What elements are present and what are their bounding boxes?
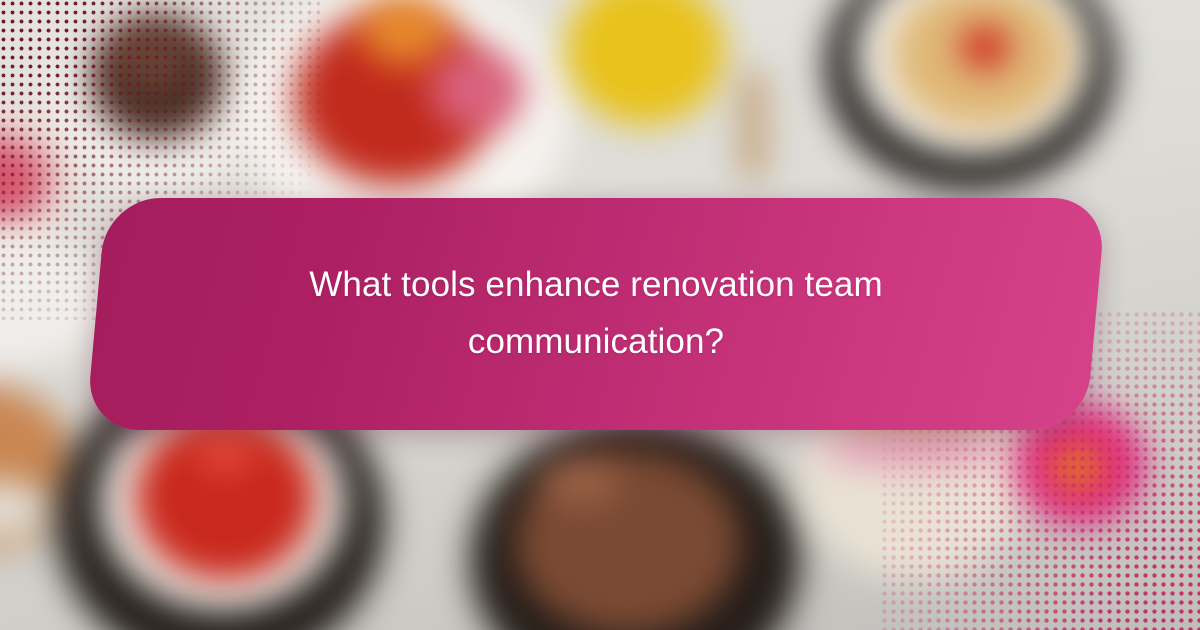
cupcake-highlight-blob: [110, 28, 190, 88]
wooden-spoon-blob: [740, 70, 766, 180]
poster-canvas: What tools enhance renovation team commu…: [0, 0, 1200, 630]
question-card-content: What tools enhance renovation team commu…: [96, 198, 1096, 430]
cookie-highlight-blob: [540, 460, 620, 505]
question-card: What tools enhance renovation team commu…: [85, 198, 1106, 430]
question-title: What tools enhance renovation team commu…: [266, 257, 926, 370]
cake-pink-band-blob: [820, 430, 1005, 468]
red-cherry-blob: [960, 25, 1010, 70]
pink-macaron-blob: [430, 50, 525, 130]
flower-center-blob: [1050, 445, 1105, 490]
